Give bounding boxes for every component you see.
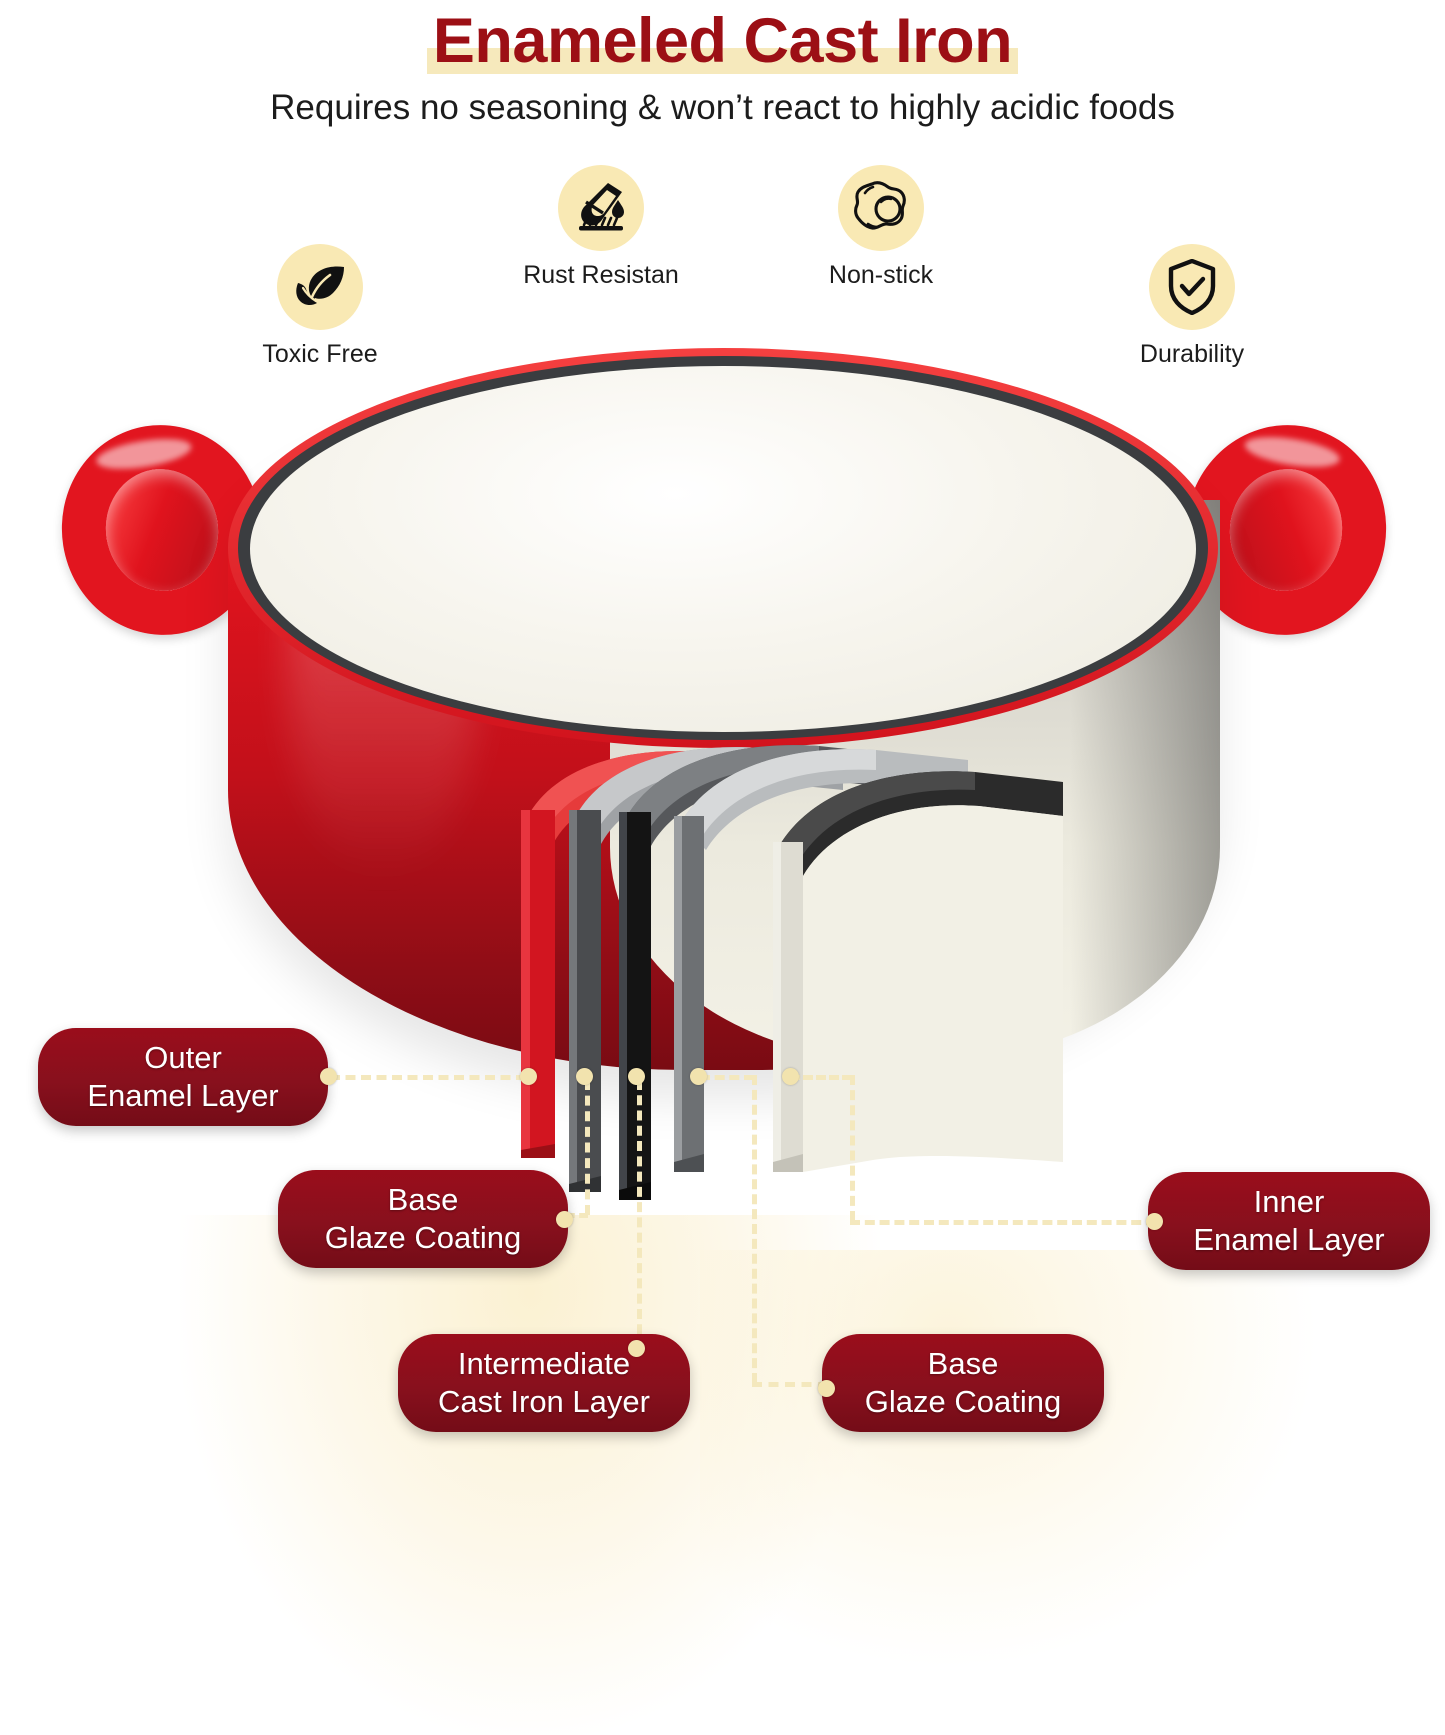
connector-dot-pill-inner xyxy=(1146,1213,1163,1230)
callout-base-glaze-coating-lower: Base Glaze Coating xyxy=(822,1334,1104,1432)
connector-dot-layer-outer xyxy=(520,1068,537,1085)
connector-dot-pill-base2 xyxy=(818,1380,835,1397)
connector-line-base-glaze-2-v xyxy=(752,1075,757,1383)
connector-line-base-glaze-1-v xyxy=(585,1080,590,1215)
connector-line-inner-enamel-h1 xyxy=(790,1075,852,1080)
header: Enameled Cast Iron Requires no seasoning… xyxy=(0,0,1445,129)
callout-line-1: Base xyxy=(325,1181,521,1219)
feature-icon-circle xyxy=(558,165,644,251)
connector-line-base-glaze-2-h1 xyxy=(700,1075,754,1080)
feature-badge-non-stick: Non-stick xyxy=(766,165,996,290)
feature-label: Durability xyxy=(1077,339,1307,369)
callout-line-1: Intermediate xyxy=(438,1345,650,1383)
feature-badge-rust-resistant: Rust Resistan xyxy=(486,165,716,290)
bottom-glow-secondary xyxy=(700,1250,1320,1670)
callout-line-2: Cast Iron Layer xyxy=(438,1383,650,1421)
feature-badge-durability: Durability xyxy=(1077,244,1307,369)
test-tube-droplet-icon xyxy=(573,180,629,236)
connector-line-base-glaze-2-h2 xyxy=(752,1382,828,1387)
fried-egg-icon xyxy=(852,180,910,236)
connector-dot-pill-base1 xyxy=(556,1211,573,1228)
feature-label: Rust Resistan xyxy=(486,260,716,290)
callout-line-2: Enamel Layer xyxy=(87,1077,278,1115)
page-subtitle: Requires no seasoning & won’t react to h… xyxy=(0,87,1445,129)
connector-dot-pill-intermediate xyxy=(628,1340,645,1357)
shield-check-icon xyxy=(1167,259,1217,315)
connector-line-inner-enamel-v xyxy=(850,1075,855,1221)
layer-inner-enamel xyxy=(763,760,1063,1190)
callout-line-2: Glaze Coating xyxy=(865,1383,1061,1421)
connector-dot-pill-outer xyxy=(320,1068,337,1085)
title-wrapper: Enameled Cast Iron xyxy=(411,4,1034,78)
callout-line-1: Base xyxy=(865,1345,1061,1383)
connector-dot-layer-inner xyxy=(782,1068,799,1085)
callout-base-glaze-coating-upper: Base Glaze Coating xyxy=(278,1170,568,1268)
callout-line-2: Glaze Coating xyxy=(325,1219,521,1257)
callout-outer-enamel-layer: Outer Enamel Layer xyxy=(38,1028,328,1126)
feature-label: Non-stick xyxy=(766,260,996,290)
feature-icon-circle xyxy=(838,165,924,251)
callout-line-1: Outer xyxy=(87,1039,278,1077)
callout-line-2: Enamel Layer xyxy=(1193,1221,1384,1259)
feature-icon-circle xyxy=(1149,244,1235,330)
callout-line-1: Inner xyxy=(1193,1183,1384,1221)
feature-badge-toxic-free: Toxic Free xyxy=(205,244,435,369)
connector-dot-layer-base1 xyxy=(576,1068,593,1085)
callout-inner-enamel-layer: Inner Enamel Layer xyxy=(1148,1172,1430,1270)
leaf-icon xyxy=(294,261,346,313)
connector-dot-layer-base2 xyxy=(690,1068,707,1085)
feature-icon-circle xyxy=(277,244,363,330)
feature-label: Toxic Free xyxy=(205,339,435,369)
connector-line-inner-enamel-h2 xyxy=(850,1220,1156,1225)
connector-dot-layer-intermediate xyxy=(628,1068,645,1085)
page-title: Enameled Cast Iron xyxy=(433,4,1012,78)
bottom-glow xyxy=(180,1215,880,1735)
callout-intermediate-cast-iron-layer: Intermediate Cast Iron Layer xyxy=(398,1334,690,1432)
connector-line-outer-enamel xyxy=(330,1075,526,1080)
